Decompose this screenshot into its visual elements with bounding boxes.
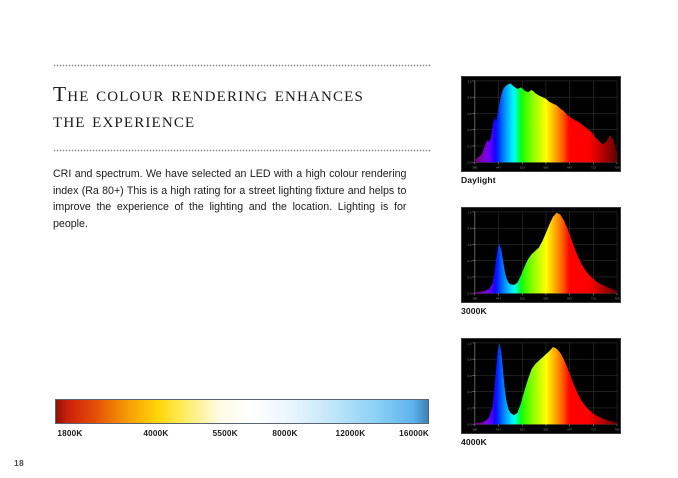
- page-title: The colour rendering enhances the experi…: [53, 81, 433, 133]
- svg-text:0.4: 0.4: [468, 128, 472, 132]
- svg-text:780: 780: [615, 296, 620, 300]
- article-body: CRI and spectrum. We have selected an LE…: [53, 166, 406, 232]
- spectrum-caption-daylight: Daylight: [461, 175, 621, 185]
- spectrum-block-3000k: 1.00.80.60.40.20.03804475135806477137803…: [461, 207, 621, 316]
- page-number: 18: [14, 458, 24, 468]
- spectrum-block-daylight: 1.00.80.60.40.20.0380447513580647713780D…: [461, 76, 621, 185]
- svg-text:447: 447: [496, 296, 501, 300]
- kelvin-tick-labels: 1800K4000K5500K8000K12000K16000K: [55, 429, 429, 445]
- article-column: The colour rendering enhances the experi…: [53, 64, 431, 244]
- svg-text:713: 713: [591, 427, 596, 431]
- spectrum-caption-4000k: 4000K: [461, 437, 621, 447]
- svg-text:447: 447: [496, 427, 501, 431]
- svg-text:0.0: 0.0: [468, 161, 472, 165]
- svg-text:713: 713: [591, 165, 596, 169]
- svg-text:447: 447: [496, 165, 501, 169]
- svg-text:0.0: 0.0: [468, 292, 472, 296]
- svg-text:580: 580: [544, 165, 549, 169]
- svg-text:0.6: 0.6: [468, 243, 472, 247]
- divider-bottom: [53, 149, 431, 152]
- spectrum-chart-4000k: 1.00.80.60.40.20.0380447513580647713780: [461, 338, 621, 434]
- page-title-line-2: the experience: [53, 107, 433, 133]
- svg-text:0.2: 0.2: [468, 145, 472, 149]
- svg-text:380: 380: [472, 165, 477, 169]
- svg-text:1.0: 1.0: [468, 210, 472, 214]
- svg-text:0.6: 0.6: [468, 112, 472, 116]
- spectrum-chart-daylight: 1.00.80.60.40.20.0380447513580647713780: [461, 76, 621, 172]
- kelvin-tick-8000k: 8000K: [272, 429, 297, 438]
- svg-text:1.0: 1.0: [468, 79, 472, 83]
- svg-text:0.8: 0.8: [468, 227, 472, 231]
- svg-text:513: 513: [520, 427, 525, 431]
- svg-text:647: 647: [567, 165, 572, 169]
- svg-text:380: 380: [472, 427, 477, 431]
- svg-text:780: 780: [615, 165, 620, 169]
- svg-text:580: 580: [544, 427, 549, 431]
- svg-text:0.2: 0.2: [468, 276, 472, 280]
- svg-text:1.0: 1.0: [468, 341, 472, 345]
- document-page: The colour rendering enhances the experi…: [0, 0, 678, 478]
- svg-text:380: 380: [472, 296, 477, 300]
- spectrum-chart-3000k: 1.00.80.60.40.20.0380447513580647713780: [461, 207, 621, 303]
- kelvin-gradient-bar: [55, 399, 429, 424]
- svg-text:580: 580: [544, 296, 549, 300]
- spectra-column: 1.00.80.60.40.20.0380447513580647713780D…: [461, 76, 621, 469]
- kelvin-scale: 1800K4000K5500K8000K12000K16000K: [55, 399, 429, 445]
- svg-text:0.8: 0.8: [468, 96, 472, 100]
- svg-text:0.6: 0.6: [468, 374, 472, 378]
- kelvin-tick-5500k: 5500K: [213, 429, 238, 438]
- spectrum-caption-3000k: 3000K: [461, 306, 621, 316]
- kelvin-tick-1800k: 1800K: [57, 429, 82, 438]
- svg-text:0.4: 0.4: [468, 390, 472, 394]
- kelvin-tick-4000k: 4000K: [143, 429, 168, 438]
- kelvin-tick-16000k: 16000K: [399, 429, 429, 438]
- divider-top: [53, 64, 431, 67]
- kelvin-tick-12000k: 12000K: [336, 429, 366, 438]
- page-title-line-1: The colour rendering enhances: [53, 81, 433, 107]
- svg-text:513: 513: [520, 296, 525, 300]
- svg-text:0.4: 0.4: [468, 259, 472, 263]
- spectrum-block-4000k: 1.00.80.60.40.20.03804475135806477137804…: [461, 338, 621, 447]
- svg-text:647: 647: [567, 427, 572, 431]
- svg-text:0.2: 0.2: [468, 407, 472, 411]
- svg-text:647: 647: [567, 296, 572, 300]
- svg-text:513: 513: [520, 165, 525, 169]
- svg-text:713: 713: [591, 296, 596, 300]
- svg-text:780: 780: [615, 427, 620, 431]
- svg-text:0.0: 0.0: [468, 423, 472, 427]
- svg-text:0.8: 0.8: [468, 358, 472, 362]
